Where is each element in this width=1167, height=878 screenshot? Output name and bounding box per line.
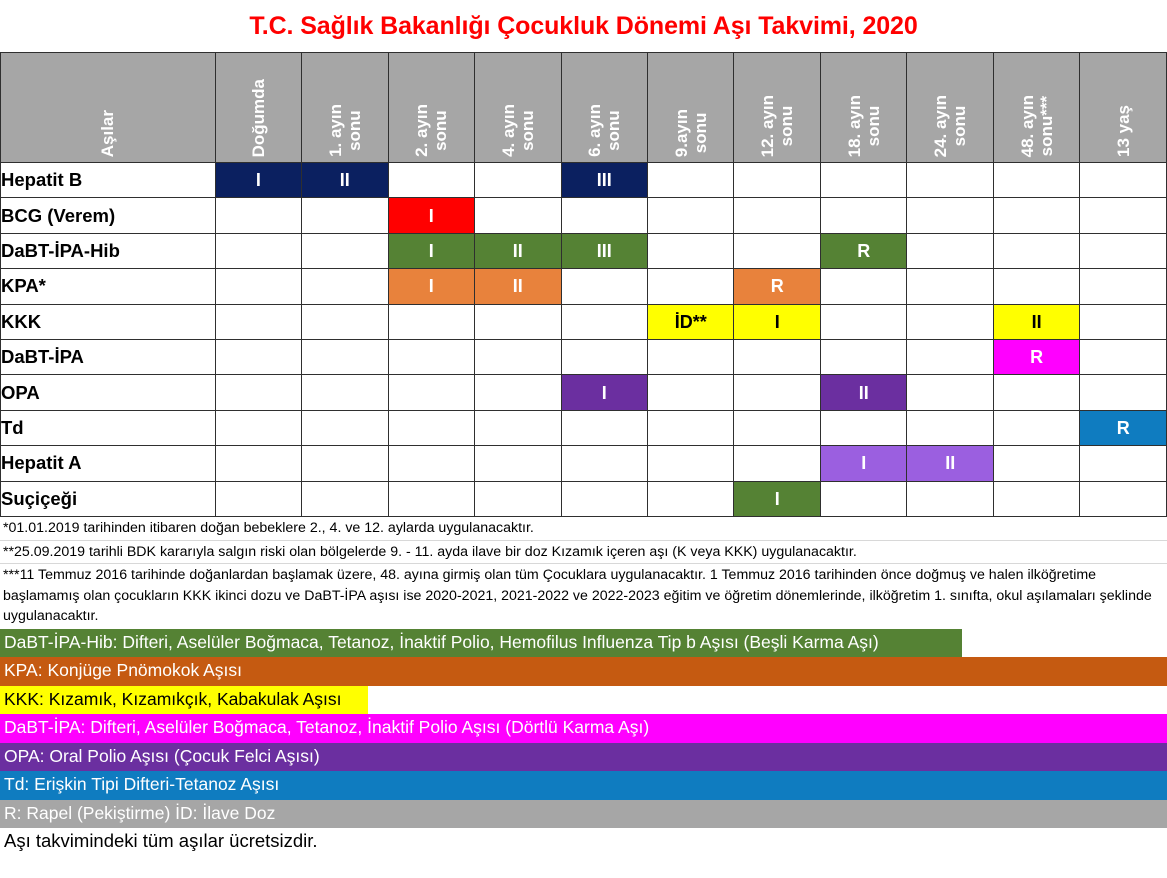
empty-cell — [734, 375, 820, 410]
legend-row: OPA: Oral Polio Aşısı (Çocuk Felci Aşısı… — [0, 743, 1167, 772]
empty-cell — [1080, 375, 1167, 410]
empty-cell — [302, 233, 388, 268]
empty-cell — [993, 481, 1079, 516]
empty-cell — [1080, 481, 1167, 516]
empty-cell — [215, 233, 301, 268]
page-title: T.C. Sağlık Bakanlığı Çocukluk Dönemi Aş… — [249, 12, 917, 41]
legend-row: DaBT-İPA: Difteri, Aselüler Boğmaca, Tet… — [0, 714, 1167, 743]
column-header-age-13: 13 yaş — [1080, 53, 1167, 163]
dose-cell: R — [993, 339, 1079, 374]
empty-cell — [1080, 163, 1167, 198]
table-row: KPA*IIIR — [1, 269, 1167, 304]
empty-cell — [820, 481, 906, 516]
empty-cell — [302, 304, 388, 339]
empty-cell — [388, 339, 474, 374]
empty-cell — [820, 410, 906, 445]
column-header-vaccines: Aşılar — [1, 53, 216, 163]
empty-cell — [820, 339, 906, 374]
footnote-3: ***11 Temmuz 2016 tarihinde doğanlardan … — [0, 564, 1167, 629]
empty-cell — [907, 339, 993, 374]
dose-cell: III — [561, 163, 647, 198]
empty-cell — [648, 481, 734, 516]
footnote-1: *01.01.2019 tarihinden itibaren doğan be… — [0, 517, 1167, 541]
dose-cell: R — [734, 269, 820, 304]
dose-cell: II — [907, 446, 993, 481]
empty-cell — [475, 375, 561, 410]
column-header-month-12: 12. ayın sonu — [734, 53, 820, 163]
dose-cell: I — [734, 481, 820, 516]
empty-cell — [734, 163, 820, 198]
empty-cell — [734, 446, 820, 481]
empty-cell — [648, 269, 734, 304]
dose-cell: I — [388, 233, 474, 268]
dose-cell: R — [820, 233, 906, 268]
empty-cell — [993, 269, 1079, 304]
empty-cell — [475, 446, 561, 481]
empty-cell — [648, 163, 734, 198]
dose-cell: I — [820, 446, 906, 481]
empty-cell — [907, 304, 993, 339]
column-header-label: 4. ayın sonu — [499, 104, 537, 157]
column-header-label: 9.ayın sonu — [672, 109, 710, 157]
table-row: Hepatit AIII — [1, 446, 1167, 481]
empty-cell — [388, 304, 474, 339]
empty-cell — [475, 163, 561, 198]
empty-cell — [734, 410, 820, 445]
empty-cell — [215, 304, 301, 339]
empty-cell — [993, 446, 1079, 481]
table-row: KKKİD**III — [1, 304, 1167, 339]
column-header-month-1: 1. ayın sonu — [302, 53, 388, 163]
empty-cell — [215, 269, 301, 304]
empty-cell — [388, 481, 474, 516]
vaccine-name-cell: Hepatit A — [1, 446, 216, 481]
empty-cell — [907, 410, 993, 445]
dose-cell: İD** — [648, 304, 734, 339]
legend-row: R: Rapel (Pekiştirme) İD: İlave Doz — [0, 800, 1167, 829]
empty-cell — [215, 375, 301, 410]
legend-row: Td: Erişkin Tipi Difteri-Tetanoz Aşısı — [0, 771, 1167, 800]
dose-cell: I — [215, 163, 301, 198]
dose-cell: II — [475, 269, 561, 304]
column-header-month-24: 24. ayın sonu — [907, 53, 993, 163]
column-header-month-18: 18. ayın sonu — [820, 53, 906, 163]
column-header-label: 6. ayın sonu — [585, 104, 623, 157]
empty-cell — [648, 198, 734, 233]
empty-cell — [302, 410, 388, 445]
empty-cell — [561, 198, 647, 233]
empty-cell — [820, 304, 906, 339]
empty-cell — [475, 339, 561, 374]
dose-cell: II — [475, 233, 561, 268]
empty-cell — [561, 446, 647, 481]
empty-cell — [993, 375, 1079, 410]
dose-cell: III — [561, 233, 647, 268]
empty-cell — [561, 269, 647, 304]
empty-cell — [820, 163, 906, 198]
empty-cell — [475, 481, 561, 516]
dose-cell: I — [388, 198, 474, 233]
empty-cell — [388, 375, 474, 410]
column-header-label: 24. ayın sonu — [931, 95, 969, 157]
empty-cell — [475, 304, 561, 339]
dose-cell: II — [820, 375, 906, 410]
empty-cell — [907, 481, 993, 516]
dose-cell: I — [561, 375, 647, 410]
empty-cell — [215, 410, 301, 445]
vaccine-name-cell: Hepatit B — [1, 163, 216, 198]
empty-cell — [561, 304, 647, 339]
empty-cell — [648, 446, 734, 481]
legend-row: DaBT-İPA-Hib: Difteri, Aselüler Boğmaca,… — [0, 629, 962, 658]
empty-cell — [302, 269, 388, 304]
column-header-label: 12. ayın sonu — [758, 95, 796, 157]
empty-cell — [907, 269, 993, 304]
column-header-month-4: 4. ayın sonu — [475, 53, 561, 163]
empty-cell — [734, 339, 820, 374]
closing-note: Aşı takvimindeki tüm aşılar ücretsizdir. — [0, 828, 1167, 857]
empty-cell — [907, 198, 993, 233]
empty-cell — [215, 198, 301, 233]
table-row: Hepatit BIIIIII — [1, 163, 1167, 198]
empty-cell — [215, 339, 301, 374]
empty-cell — [1080, 269, 1167, 304]
empty-cell — [302, 339, 388, 374]
empty-cell — [302, 446, 388, 481]
empty-cell — [561, 481, 647, 516]
empty-cell — [993, 198, 1079, 233]
column-header-label: 13 yaş — [1114, 105, 1133, 157]
vaccine-name-cell: BCG (Verem) — [1, 198, 216, 233]
footnote-2: **25.09.2019 tarihli BDK kararıyla salgı… — [0, 541, 1167, 565]
table-row: TdR — [1, 410, 1167, 445]
column-header-label: Aşılar — [98, 110, 117, 157]
column-header-month-6: 6. ayın sonu — [561, 53, 647, 163]
empty-cell — [1080, 233, 1167, 268]
empty-cell — [215, 446, 301, 481]
empty-cell — [993, 410, 1079, 445]
vaccine-name-cell: DaBT-İPA-Hib — [1, 233, 216, 268]
empty-cell — [475, 198, 561, 233]
empty-cell — [1080, 198, 1167, 233]
table-header-row: Aşılar Doğumda 1. ayın sonu 2. ayın sonu… — [1, 53, 1167, 163]
table-row: BCG (Verem)I — [1, 198, 1167, 233]
title-bar: T.C. Sağlık Bakanlığı Çocukluk Dönemi Aş… — [0, 0, 1167, 52]
dose-cell: R — [1080, 410, 1167, 445]
table-row: SuçiçeğiI — [1, 481, 1167, 516]
empty-cell — [388, 446, 474, 481]
column-header-label: 48. ayın sonu*** — [1018, 95, 1056, 157]
vaccine-name-cell: DaBT-İPA — [1, 339, 216, 374]
legend-section: DaBT-İPA-Hib: Difteri, Aselüler Boğmaca,… — [0, 629, 1167, 829]
empty-cell — [302, 198, 388, 233]
empty-cell — [648, 410, 734, 445]
footnotes-section: *01.01.2019 tarihinden itibaren doğan be… — [0, 517, 1167, 629]
column-header-month-48: 48. ayın sonu*** — [993, 53, 1079, 163]
empty-cell — [820, 198, 906, 233]
empty-cell — [820, 269, 906, 304]
table-header: Aşılar Doğumda 1. ayın sonu 2. ayın sonu… — [1, 53, 1167, 163]
empty-cell — [302, 481, 388, 516]
empty-cell — [907, 233, 993, 268]
empty-cell — [993, 163, 1079, 198]
table-row: OPAIII — [1, 375, 1167, 410]
column-header-label: Doğumda — [249, 79, 268, 157]
empty-cell — [475, 410, 561, 445]
empty-cell — [648, 339, 734, 374]
table-row: DaBT-İPA-HibIIIIIIR — [1, 233, 1167, 268]
empty-cell — [648, 233, 734, 268]
table-body: Hepatit BIIIIIIBCG (Verem)IDaBT-İPA-HibI… — [1, 163, 1167, 517]
dose-cell: I — [734, 304, 820, 339]
table-row: DaBT-İPAR — [1, 339, 1167, 374]
vaccine-name-cell: OPA — [1, 375, 216, 410]
dose-cell: II — [993, 304, 1079, 339]
empty-cell — [907, 375, 993, 410]
dose-cell: II — [302, 163, 388, 198]
empty-cell — [215, 481, 301, 516]
dose-cell: I — [388, 269, 474, 304]
vaccine-name-cell: Td — [1, 410, 216, 445]
legend-row: KKK: Kızamık, Kızamıkçık, Kabakulak Aşıs… — [0, 686, 368, 715]
empty-cell — [302, 375, 388, 410]
empty-cell — [907, 163, 993, 198]
empty-cell — [1080, 339, 1167, 374]
column-header-dogumda: Doğumda — [215, 53, 301, 163]
column-header-month-9: 9.ayın sonu — [648, 53, 734, 163]
empty-cell — [1080, 304, 1167, 339]
legend-row: KPA: Konjüge Pnömokok Aşısı — [0, 657, 1167, 686]
column-header-label: 18. ayın sonu — [845, 95, 883, 157]
column-header-label: 1. ayın sonu — [326, 104, 364, 157]
vaccine-name-cell: KKK — [1, 304, 216, 339]
column-header-label: 2. ayın sonu — [412, 104, 450, 157]
empty-cell — [734, 233, 820, 268]
empty-cell — [388, 163, 474, 198]
vaccination-schedule-table: Aşılar Doğumda 1. ayın sonu 2. ayın sonu… — [0, 52, 1167, 517]
empty-cell — [561, 339, 647, 374]
empty-cell — [561, 410, 647, 445]
empty-cell — [1080, 446, 1167, 481]
vaccine-name-cell: Suçiçeği — [1, 481, 216, 516]
empty-cell — [993, 233, 1079, 268]
vaccine-name-cell: KPA* — [1, 269, 216, 304]
column-header-month-2: 2. ayın sonu — [388, 53, 474, 163]
empty-cell — [388, 410, 474, 445]
empty-cell — [648, 375, 734, 410]
empty-cell — [734, 198, 820, 233]
